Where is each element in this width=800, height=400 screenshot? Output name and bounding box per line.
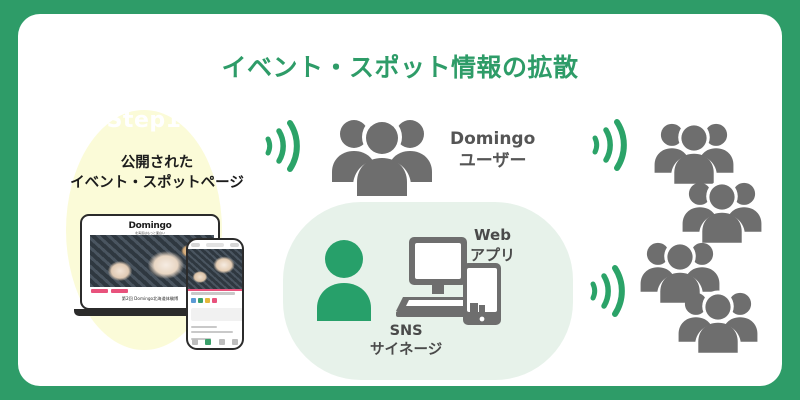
phone-nav-list-icon <box>219 339 225 345</box>
sns-signage-label-line2: サイネージ <box>370 342 442 358</box>
published-page-label: 公開された イベント・スポットページ <box>32 154 282 193</box>
phone-bottom-nav <box>188 339 242 345</box>
phone-status-right <box>230 243 239 247</box>
web-app-label-line1: Web <box>474 226 511 244</box>
published-page-label-line2: イベント・スポットページ <box>32 174 282 194</box>
diagram-canvas: イベント・スポット情報の拡散 Step1 公開された イベント・スポットページ … <box>0 0 800 400</box>
person-icon <box>313 239 375 321</box>
phone-icon-1 <box>191 298 196 303</box>
people-group-right-4-icon <box>677 288 759 356</box>
signal-wave-top-right-icon <box>585 118 629 172</box>
laptop-tag-row <box>91 289 128 293</box>
laptop-tag-2 <box>111 289 128 293</box>
web-app-label: Web アプリ <box>470 226 515 265</box>
phone-content-card <box>191 308 243 321</box>
phone-mockup <box>186 238 244 350</box>
sns-signage-label-line1: SNS <box>390 323 423 339</box>
phone-icon-3 <box>205 298 210 303</box>
phone-action-icons <box>191 298 217 303</box>
phone-nav-add-icon <box>205 339 211 345</box>
published-page-label-line1: 公開された <box>32 154 282 174</box>
phone-icon-4 <box>212 298 217 303</box>
phone-body-line-1 <box>191 326 217 328</box>
web-app-label-line2: アプリ <box>470 246 515 264</box>
domingo-users-label-line1: Domingo <box>450 129 535 149</box>
laptop-brand-name: Domingo <box>128 221 171 231</box>
laptop-brand-logo: Domingo 北海道はもっと面白い <box>82 221 218 235</box>
phone-status-left <box>191 243 200 247</box>
signal-wave-left-icon <box>258 119 302 173</box>
phone-nav-profile-icon <box>232 339 238 345</box>
phone-accent-bar <box>188 289 242 291</box>
people-group-right-1-icon <box>653 119 735 187</box>
domingo-users-label: Domingo ユーザー <box>450 128 535 172</box>
domingo-users-label-line2: ユーザー <box>459 151 527 171</box>
tablet-icon <box>463 263 501 325</box>
phone-status-bar <box>188 240 242 249</box>
phone-icon-2 <box>198 298 203 303</box>
phone-body-line-2 <box>191 331 233 333</box>
phone-hero-photo <box>188 249 242 289</box>
phone-title-line <box>191 292 235 295</box>
people-group-right-2-icon <box>681 178 763 246</box>
page-title: イベント・スポット情報の拡散 <box>18 48 782 84</box>
laptop-tag-1 <box>91 289 108 293</box>
step1-watermark: Step1 <box>66 108 222 133</box>
people-group-domingo-users-icon <box>330 114 434 200</box>
phone-nav-home-icon <box>192 339 198 345</box>
content-card: イベント・スポット情報の拡散 Step1 公開された イベント・スポットページ … <box>18 14 782 386</box>
sns-signage-label: SNS サイネージ <box>370 322 442 360</box>
device-mockup-group: Domingo 北海道はもっと面白い 第2回 Domingo北海道体験博 <box>74 212 259 352</box>
signal-wave-bottom-right-icon <box>583 264 627 318</box>
phone-status-center <box>206 243 224 247</box>
